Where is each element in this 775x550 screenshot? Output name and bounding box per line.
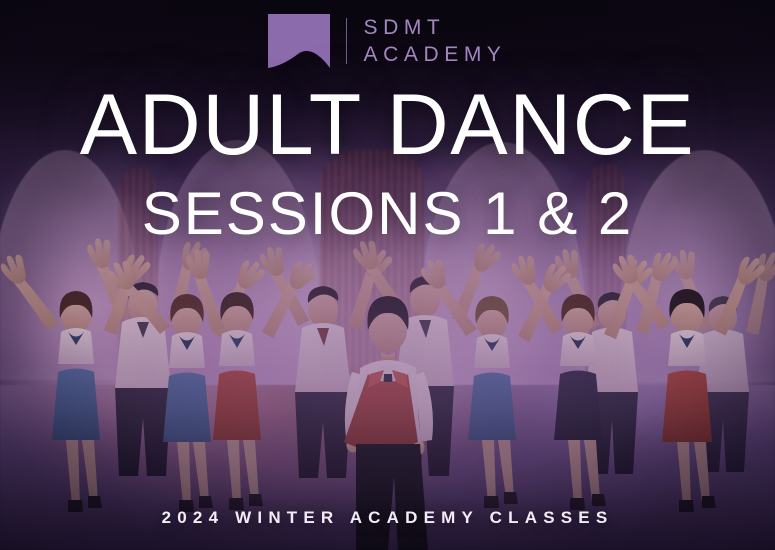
brand-line-2: ACADEMY <box>363 43 506 67</box>
footer-caption: 2024 WINTER ACADEMY CLASSES <box>0 508 775 528</box>
brand-lockup: SDMT ACADEMY <box>0 14 775 68</box>
brand-line-1: SDMT <box>363 16 506 40</box>
poster-content: SDMT ACADEMY ADULT DANCE SESSIONS 1 & 2 … <box>0 0 775 550</box>
headline-subtitle: SESSIONS 1 & 2 <box>0 184 775 244</box>
brand-wordmark: SDMT ACADEMY <box>363 16 506 66</box>
brand-divider <box>346 18 347 64</box>
headline-title: ADULT DANCE <box>0 82 775 168</box>
sdmt-banner-mark-icon <box>268 14 330 68</box>
poster-canvas: SDMT ACADEMY ADULT DANCE SESSIONS 1 & 2 … <box>0 0 775 550</box>
